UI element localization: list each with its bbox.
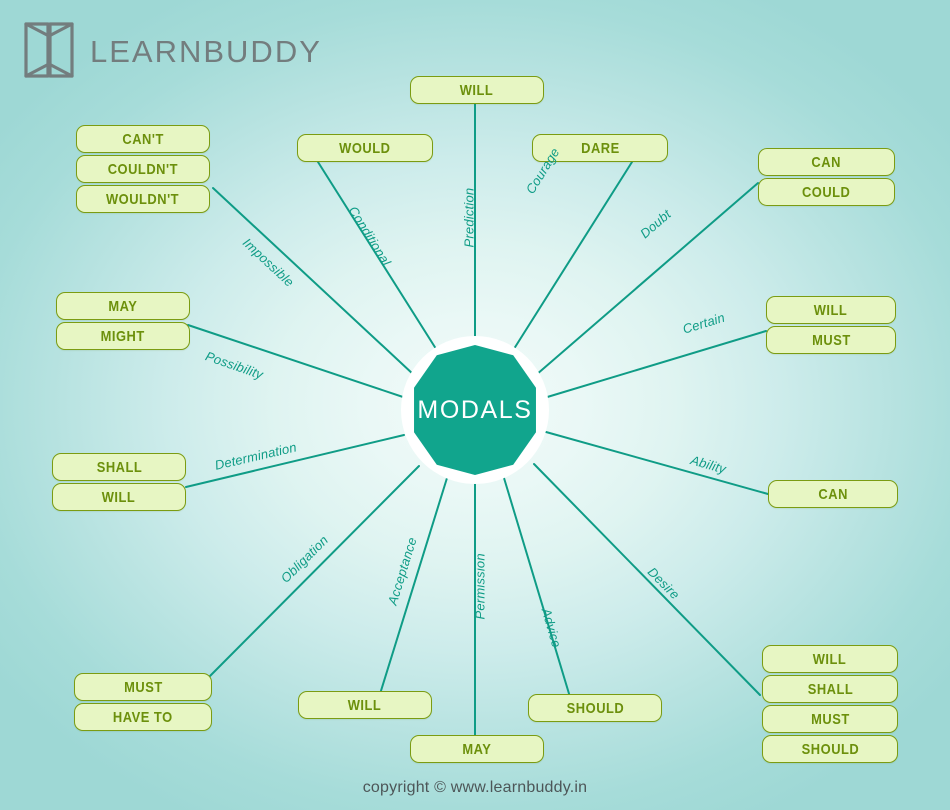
modal-box-label: SHOULD xyxy=(801,741,859,758)
node-group-certain: WILLMUST xyxy=(766,296,896,356)
modal-box-label: MUST xyxy=(811,711,850,728)
modal-box-label: CAN'T xyxy=(122,131,163,148)
open-book-icon xyxy=(22,14,76,90)
modal-box-label: WOULDN'T xyxy=(106,191,179,208)
modal-box[interactable]: SHOULD xyxy=(762,735,898,763)
connector-ability xyxy=(546,432,768,494)
modal-box[interactable]: HAVE TO xyxy=(74,703,212,731)
modal-box[interactable]: COULD xyxy=(758,178,895,206)
modal-box-label: DARE xyxy=(581,140,620,157)
modal-box[interactable]: WILL xyxy=(766,296,896,324)
modal-box[interactable]: MUST xyxy=(762,705,898,733)
modal-box[interactable]: WOULDN'T xyxy=(76,185,210,213)
modal-box[interactable]: CAN xyxy=(768,480,898,508)
modal-box-label: MIGHT xyxy=(101,328,145,345)
modal-box-label: SHOULD xyxy=(566,700,624,717)
modal-box[interactable]: MUST xyxy=(766,326,896,354)
modal-box-label: CAN xyxy=(818,486,848,503)
modal-box-label: WILL xyxy=(814,302,848,319)
modal-box-label: SHALL xyxy=(807,681,853,698)
modal-box-label: MUST xyxy=(124,679,163,696)
modal-box-label: WILL xyxy=(348,697,382,714)
node-group-obligation: MUSTHAVE TO xyxy=(74,673,212,733)
node-group-determination: SHALLWILL xyxy=(52,453,186,513)
modal-box[interactable]: CAN xyxy=(758,148,895,176)
center-node[interactable]: MODALS xyxy=(401,336,549,484)
copyright-footer: copyright © www.learnbuddy.in xyxy=(0,779,950,797)
modal-box[interactable]: WILL xyxy=(298,691,432,719)
modal-box-label: WILL xyxy=(102,489,136,506)
modal-box[interactable]: MUST xyxy=(74,673,212,701)
node-group-conditional: WOULD xyxy=(297,134,433,164)
node-group-desire: WILLSHALLMUSTSHOULD xyxy=(762,645,898,765)
modal-box-label: COULDN'T xyxy=(108,161,178,178)
modal-box[interactable]: COULDN'T xyxy=(76,155,210,183)
modal-box[interactable]: WILL xyxy=(762,645,898,673)
modal-box[interactable]: SHOULD xyxy=(528,694,662,722)
node-group-doubt: CANCOULD xyxy=(758,148,895,208)
node-group-permission: MAY xyxy=(410,735,544,765)
edge-label-permission: Permission xyxy=(473,553,488,619)
modal-box[interactable]: WOULD xyxy=(297,134,433,162)
node-group-impossible: CAN'TCOULDN'TWOULDN'T xyxy=(76,125,210,215)
node-group-ability: CAN xyxy=(768,480,898,510)
node-group-possibility: MAYMIGHT xyxy=(56,292,190,352)
node-group-acceptance: WILL xyxy=(298,691,432,721)
modal-box-label: WOULD xyxy=(339,140,390,157)
modal-box[interactable]: MIGHT xyxy=(56,322,190,350)
connector-doubt xyxy=(536,183,758,375)
brand-logo: LEARNBUDDY xyxy=(22,14,322,90)
modal-box-label: MUST xyxy=(812,332,851,349)
modal-box-label: MAY xyxy=(108,298,137,315)
modal-box[interactable]: WILL xyxy=(410,76,544,104)
modal-box-label: SHALL xyxy=(96,459,142,476)
modal-box[interactable]: SHALL xyxy=(762,675,898,703)
brand-name: LEARNBUDDY xyxy=(90,34,322,70)
connector-advice xyxy=(504,478,570,697)
modal-box-label: MAY xyxy=(462,741,491,758)
modal-box[interactable]: WILL xyxy=(52,483,186,511)
modal-box[interactable]: CAN'T xyxy=(76,125,210,153)
connector-obligation xyxy=(210,466,419,676)
node-group-advice: SHOULD xyxy=(528,694,662,724)
connector-desire xyxy=(534,464,760,695)
modal-box-label: WILL xyxy=(460,82,494,99)
modal-box[interactable]: MAY xyxy=(410,735,544,763)
modal-box[interactable]: MAY xyxy=(56,292,190,320)
modal-box-label: WILL xyxy=(813,651,847,668)
modal-box-label: COULD xyxy=(802,184,850,201)
connector-certain xyxy=(544,331,766,398)
center-node-label: MODALS xyxy=(401,336,549,484)
connector-impossible xyxy=(213,188,414,375)
modal-box[interactable]: SHALL xyxy=(52,453,186,481)
edge-label-prediction: Prediction xyxy=(462,188,477,248)
modal-box-label: HAVE TO xyxy=(113,709,173,726)
modal-box-label: CAN xyxy=(812,154,842,171)
node-group-prediction: WILL xyxy=(410,76,544,106)
